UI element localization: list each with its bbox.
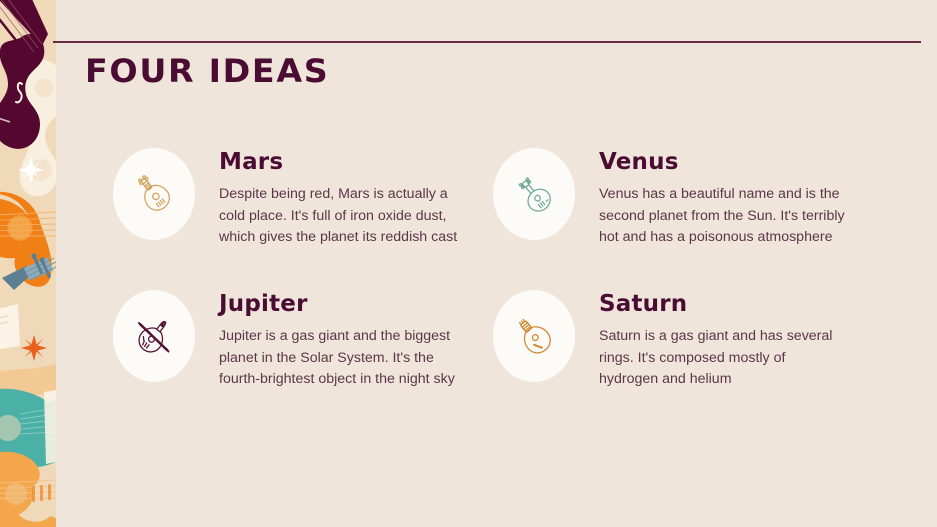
idea-item-mars: Mars Despite being red, Mars is actually… <box>113 146 493 249</box>
idea-icon-bubble-mars <box>113 148 195 240</box>
cream-edge-shape <box>44 390 56 464</box>
idea-title: Venus <box>599 150 847 174</box>
cream-rect-shape <box>0 304 20 350</box>
idea-body: Jupiter is a gas giant and the biggest p… <box>219 326 467 391</box>
lute-icon <box>131 171 177 217</box>
idea-item-venus: Venus Venus has a beautiful name and is … <box>493 146 873 249</box>
idea-icon-bubble-saturn <box>493 290 575 382</box>
lute-with-bow-icon <box>131 313 177 359</box>
mandolin-icon <box>511 171 557 217</box>
idea-title: Jupiter <box>219 292 467 316</box>
idea-icon-bubble-jupiter <box>113 290 195 382</box>
idea-body: Saturn is a gas giant and has several ri… <box>599 326 847 391</box>
side-strip-artwork <box>0 0 56 527</box>
idea-icon-bubble-venus <box>493 148 575 240</box>
slide-canvas: FOUR IDEAS <box>0 0 937 527</box>
idea-text-saturn: Saturn Saturn is a gas giant and has sev… <box>575 288 847 391</box>
idea-text-mars: Mars Despite being red, Mars is actually… <box>195 146 467 249</box>
decorative-side-strip <box>0 0 56 527</box>
idea-text-venus: Venus Venus has a beautiful name and is … <box>575 146 847 249</box>
idea-title: Mars <box>219 150 467 174</box>
page-title: FOUR IDEAS <box>85 52 329 90</box>
oud-icon <box>511 313 557 359</box>
idea-title: Saturn <box>599 292 847 316</box>
ideas-grid: Mars Despite being red, Mars is actually… <box>113 146 903 391</box>
idea-text-jupiter: Jupiter Jupiter is a gas giant and the b… <box>195 288 467 391</box>
white-star-icon <box>18 157 44 183</box>
header-divider-rule <box>53 41 921 43</box>
idea-body: Despite being red, Mars is actually a co… <box>219 184 467 249</box>
idea-body: Venus has a beautiful name and is the se… <box>599 184 847 249</box>
orange-star-icon <box>21 335 47 361</box>
idea-item-saturn: Saturn Saturn is a gas giant and has sev… <box>493 288 873 391</box>
idea-item-jupiter: Jupiter Jupiter is a gas giant and the b… <box>113 288 493 391</box>
